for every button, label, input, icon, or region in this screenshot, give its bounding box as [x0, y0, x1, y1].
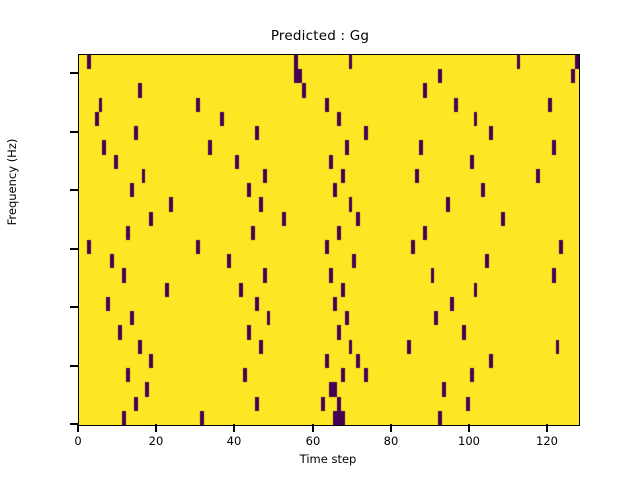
x-tick-mark: [155, 424, 156, 432]
x-tick-label: 120: [507, 434, 587, 448]
matplotlib-figure: Predicted : Gg 0200004000060000800001000…: [0, 0, 640, 480]
x-tick-mark: [546, 424, 547, 432]
y-tick-mark: [70, 306, 78, 307]
heatmap-axes: [78, 54, 580, 426]
y-tick-mark: [70, 365, 78, 366]
y-tick-mark: [70, 189, 78, 190]
x-axis-label: Time step: [78, 452, 578, 466]
x-tick-label: 20: [116, 434, 196, 448]
spectrogram-heatmap: [79, 55, 579, 425]
y-tick-mark: [70, 72, 78, 73]
x-tick-mark: [77, 424, 78, 432]
x-tick-label: 100: [429, 434, 509, 448]
y-axis-label: Frequency (Hz): [5, 0, 19, 382]
x-tick-mark: [468, 424, 469, 432]
page-title: Predicted : Gg: [0, 28, 640, 44]
x-tick-mark: [390, 424, 391, 432]
x-tick-label: 40: [194, 434, 274, 448]
x-tick-label: 80: [351, 434, 431, 448]
y-tick-mark: [70, 248, 78, 249]
x-tick-label: 0: [38, 434, 118, 448]
x-tick-mark: [233, 424, 234, 432]
x-tick-label: 60: [273, 434, 353, 448]
x-tick-mark: [312, 424, 313, 432]
y-tick-mark: [70, 131, 78, 132]
